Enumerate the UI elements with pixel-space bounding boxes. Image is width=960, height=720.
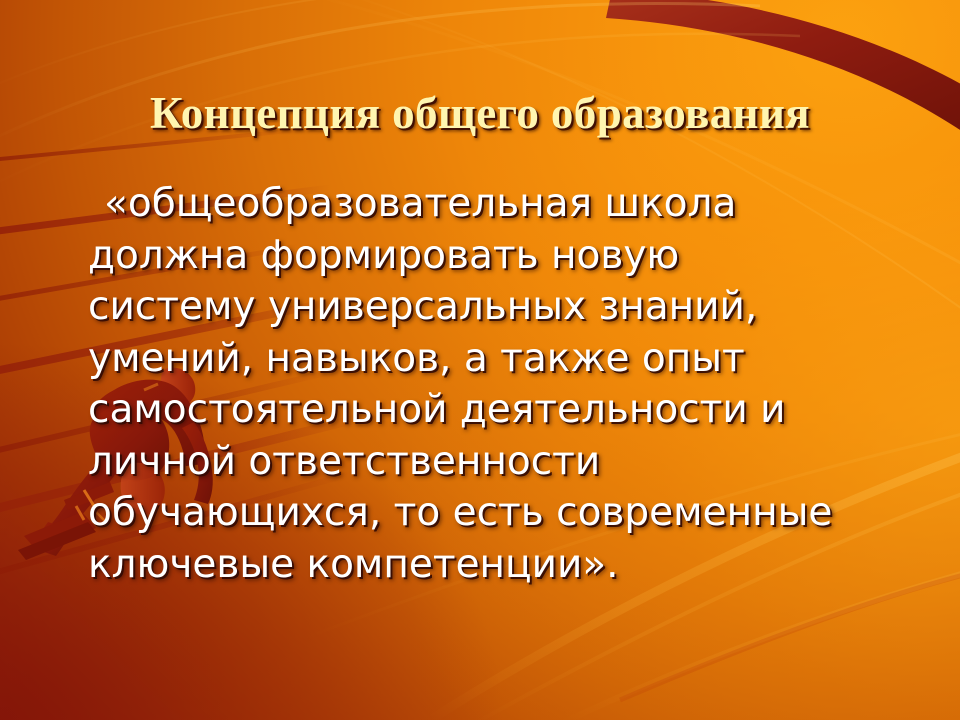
slide-title: Концепция общего образования <box>0 86 960 140</box>
presentation-slide: Концепция общего образования «общеобразо… <box>0 0 960 720</box>
body-line: систему универсальных знаний, <box>88 281 928 333</box>
body-line: обучающихся, то есть современные <box>88 487 928 539</box>
body-line: «общеобразовательная школа <box>88 178 928 230</box>
body-line: должна формировать новую <box>88 230 928 282</box>
body-line: личной ответственности <box>88 436 928 488</box>
body-line: умений, навыков, а также опыт <box>88 333 928 385</box>
body-line: самостоятельной деятельности и <box>88 384 928 436</box>
body-line: ключевые компетенции». <box>88 539 928 591</box>
slide-body-text: «общеобразовательная школа должна формир… <box>88 178 928 590</box>
